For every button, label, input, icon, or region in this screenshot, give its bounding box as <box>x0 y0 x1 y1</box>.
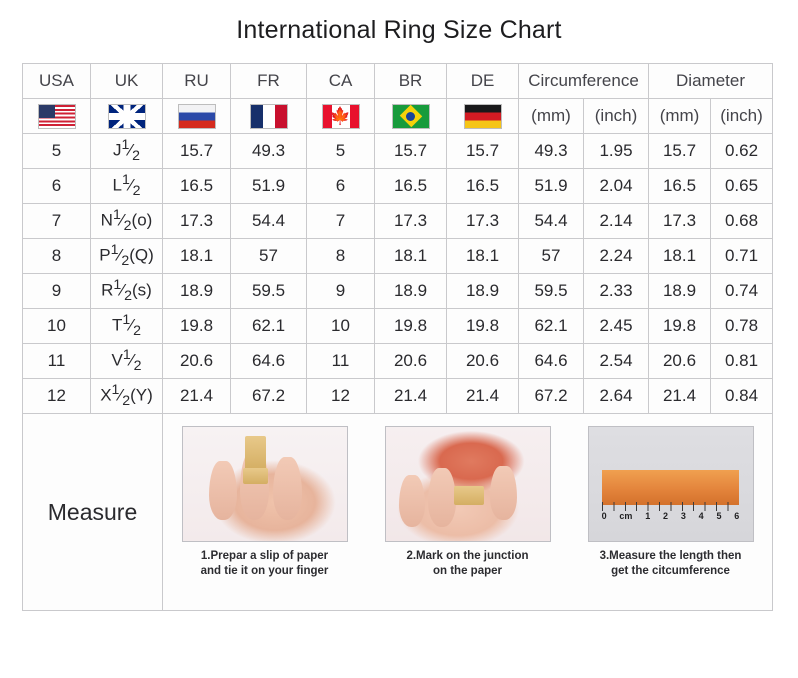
ruler-label: 0 <box>602 511 607 521</box>
uk-denominator: 2 <box>134 359 142 375</box>
table-row: 9R1⁄2(s)18.959.5918.918.959.52.3318.90.7… <box>23 274 773 309</box>
uk-suffix: (o) <box>132 211 153 230</box>
header-ca: CA <box>307 64 375 99</box>
canada-flag-icon: 🍁 <box>322 104 360 129</box>
cell-ru: 21.4 <box>163 379 231 414</box>
cell-dia-mm: 18.1 <box>649 239 711 274</box>
cell-usa-size: 8 <box>23 239 91 274</box>
cell-circ-in: 1.95 <box>584 134 649 169</box>
step-caption-line2: and tie it on your finger <box>165 564 365 579</box>
ruler-label: 3 <box>681 511 686 521</box>
table-row: 6L1⁄216.551.9616.516.551.92.0416.50.65 <box>23 169 773 204</box>
cell-circ-in: 2.24 <box>584 239 649 274</box>
cell-circ-in: 2.04 <box>584 169 649 204</box>
usa-flag-icon <box>38 104 76 129</box>
header-ru: RU <box>163 64 231 99</box>
cell-dia-mm: 17.3 <box>649 204 711 239</box>
cell-uk-size: X1⁄2(Y) <box>91 379 163 414</box>
cell-dia-in: 0.74 <box>711 274 773 309</box>
header-circumference: Circumference <box>519 64 649 99</box>
cell-ru: 18.9 <box>163 274 231 309</box>
cell-br: 17.3 <box>375 204 447 239</box>
table-body: 5J1⁄215.749.3515.715.749.31.9515.70.626L… <box>23 134 773 414</box>
header-row-names: USA UK RU FR CA BR DE Circumference Diam… <box>23 64 773 99</box>
cell-br: 18.1 <box>375 239 447 274</box>
uk-numerator: 1 <box>123 347 131 363</box>
ruler-label: 4 <box>699 511 704 521</box>
cell-fr: 54.4 <box>231 204 307 239</box>
cell-ca: 5 <box>307 134 375 169</box>
uk-letter: R <box>101 281 113 300</box>
cell-ca: 10 <box>307 309 375 344</box>
cell-usa-size: 7 <box>23 204 91 239</box>
cell-uk-size: R1⁄2(s) <box>91 274 163 309</box>
cell-dia-in: 0.65 <box>711 169 773 204</box>
ruler-label: 5 <box>716 511 721 521</box>
ruler-label: 2 <box>663 511 668 521</box>
page-title: International Ring Size Chart <box>0 16 798 45</box>
cell-circ-mm: 67.2 <box>519 379 584 414</box>
uk-denominator: 2 <box>133 184 141 200</box>
cell-ca: 9 <box>307 274 375 309</box>
cell-circ-in: 2.54 <box>584 344 649 379</box>
unit-circumference-inch: (inch) <box>584 99 649 134</box>
uk-letter: T <box>112 316 122 335</box>
uk-denominator: 2 <box>121 254 129 270</box>
cell-de: 20.6 <box>447 344 519 379</box>
cell-dia-mm: 20.6 <box>649 344 711 379</box>
cell-de: 15.7 <box>447 134 519 169</box>
cell-ca: 11 <box>307 344 375 379</box>
header-br: BR <box>375 64 447 99</box>
cell-ru: 17.3 <box>163 204 231 239</box>
ring-size-chart-page: International Ring Size Chart USA UK RU … <box>0 0 798 678</box>
cell-br: 20.6 <box>375 344 447 379</box>
cell-de: 21.4 <box>447 379 519 414</box>
cell-germany-flag <box>447 99 519 134</box>
cell-circ-mm: 51.9 <box>519 169 584 204</box>
cell-br: 15.7 <box>375 134 447 169</box>
cell-uk-size: T1⁄2 <box>91 309 163 344</box>
france-flag-icon <box>250 104 288 129</box>
cell-usa-size: 9 <box>23 274 91 309</box>
cell-ca: 6 <box>307 169 375 204</box>
uk-flag-icon <box>108 104 146 129</box>
ruler-measuring-photo: 0cm123456 <box>588 426 754 542</box>
cell-russia-flag <box>163 99 231 134</box>
cell-usa-size: 12 <box>23 379 91 414</box>
russia-flag-icon <box>178 104 216 129</box>
cell-dia-mm: 19.8 <box>649 309 711 344</box>
step-caption-line1: 2.Mark on the junction <box>368 549 568 564</box>
finger-shape <box>273 457 303 521</box>
uk-suffix: (Q) <box>129 246 154 265</box>
cell-circ-mm: 57 <box>519 239 584 274</box>
cell-uk-size: P1⁄2(Q) <box>91 239 163 274</box>
ruler-label: 1 <box>645 511 650 521</box>
cell-usa-size: 10 <box>23 309 91 344</box>
measure-label: Measure <box>23 414 163 611</box>
step-caption-line1: 1.Prepar a slip of paper <box>165 549 365 564</box>
ruler-label: cm <box>619 511 632 521</box>
germany-flag-icon <box>464 104 502 129</box>
cell-circ-in: 2.14 <box>584 204 649 239</box>
cell-ru: 16.5 <box>163 169 231 204</box>
brazil-flag-icon <box>392 104 430 129</box>
cell-dia-in: 0.81 <box>711 344 773 379</box>
cell-dia-in: 0.71 <box>711 239 773 274</box>
cell-ru: 15.7 <box>163 134 231 169</box>
table-row: 12X1⁄2(Y)21.467.21221.421.467.22.6421.40… <box>23 379 773 414</box>
uk-denominator: 2 <box>133 324 141 340</box>
cell-fr: 59.5 <box>231 274 307 309</box>
table-row: 5J1⁄215.749.3515.715.749.31.9515.70.62 <box>23 134 773 169</box>
ring-size-table: USA UK RU FR CA BR DE Circumference Diam… <box>22 63 773 611</box>
cell-ca: 8 <box>307 239 375 274</box>
uk-denominator: 2 <box>124 219 132 235</box>
paper-strip <box>243 468 268 484</box>
hand-with-paper-strip-photo <box>182 426 348 542</box>
cell-circ-mm: 49.3 <box>519 134 584 169</box>
cell-dia-mm: 15.7 <box>649 134 711 169</box>
cell-br: 21.4 <box>375 379 447 414</box>
cell-dia-mm: 18.9 <box>649 274 711 309</box>
table-header: USA UK RU FR CA BR DE Circumference Diam… <box>23 64 773 134</box>
step-caption: 3.Measure the length thenget the citcumf… <box>571 549 771 579</box>
brazil-globe <box>406 112 415 121</box>
marking-paper-junction-photo <box>385 426 551 542</box>
measure-step: 0cm1234563.Measure the length thenget th… <box>571 426 771 579</box>
cell-dia-in: 0.78 <box>711 309 773 344</box>
cell-circ-mm: 62.1 <box>519 309 584 344</box>
cell-br: 19.8 <box>375 309 447 344</box>
cell-canada-flag: 🍁 <box>307 99 375 134</box>
cell-dia-in: 0.62 <box>711 134 773 169</box>
cell-ca: 12 <box>307 379 375 414</box>
step-caption-line2: get the citcumference <box>571 564 771 579</box>
cell-de: 19.8 <box>447 309 519 344</box>
header-de: DE <box>447 64 519 99</box>
cell-fr: 51.9 <box>231 169 307 204</box>
table-row: 10T1⁄219.862.11019.819.862.12.4519.80.78 <box>23 309 773 344</box>
uk-letter: P <box>99 246 110 265</box>
step-caption: 1.Prepar a slip of paperand tie it on yo… <box>165 549 365 579</box>
cell-brazil-flag <box>375 99 447 134</box>
cell-circ-mm: 54.4 <box>519 204 584 239</box>
ruler-label: 6 <box>734 511 739 521</box>
measure-steps: 1.Prepar a slip of paperand tie it on yo… <box>163 414 772 610</box>
finger-shape <box>399 475 425 527</box>
paper-strip <box>245 436 266 470</box>
step-caption-line2: on the paper <box>368 564 568 579</box>
unit-circumference-mm: (mm) <box>519 99 584 134</box>
cell-usa-flag <box>23 99 91 134</box>
header-uk: UK <box>91 64 163 99</box>
measure-row: Measure 1.Prepar a slip of paperand tie … <box>23 414 773 611</box>
cell-ru: 20.6 <box>163 344 231 379</box>
uk-suffix: (s) <box>132 281 152 300</box>
cell-circ-mm: 64.6 <box>519 344 584 379</box>
cell-dia-mm: 21.4 <box>649 379 711 414</box>
ruler-numbers: 0cm123456 <box>602 511 740 521</box>
table-row: 8P1⁄2(Q)18.157818.118.1572.2418.10.71 <box>23 239 773 274</box>
cell-fr: 62.1 <box>231 309 307 344</box>
table-row: 7N1⁄2(o)17.354.4717.317.354.42.1417.30.6… <box>23 204 773 239</box>
cell-fr: 64.6 <box>231 344 307 379</box>
header-diameter: Diameter <box>649 64 773 99</box>
finger-shape <box>490 466 516 521</box>
finger-shape <box>428 468 456 527</box>
ruler-body <box>602 470 740 504</box>
cell-ru: 19.8 <box>163 309 231 344</box>
header-row-flags: 🍁 (mm) (inch) (mm) (inch) <box>23 99 773 134</box>
measure-section: Measure 1.Prepar a slip of paperand tie … <box>23 414 773 611</box>
cell-ca: 7 <box>307 204 375 239</box>
maple-leaf-icon: 🍁 <box>323 108 359 125</box>
cell-de: 17.3 <box>447 204 519 239</box>
cell-usa-size: 11 <box>23 344 91 379</box>
cell-uk-size: N1⁄2(o) <box>91 204 163 239</box>
ruler-ticks <box>602 502 740 511</box>
uk-denominator: 2 <box>124 289 132 305</box>
cell-uk-size: V1⁄2 <box>91 344 163 379</box>
cell-fr: 57 <box>231 239 307 274</box>
paper-strip <box>454 486 484 504</box>
cell-usa-size: 5 <box>23 134 91 169</box>
step-caption-line1: 3.Measure the length then <box>571 549 771 564</box>
cell-fr: 49.3 <box>231 134 307 169</box>
cell-usa-size: 6 <box>23 169 91 204</box>
uk-denominator: 2 <box>122 394 130 410</box>
cell-circ-in: 2.64 <box>584 379 649 414</box>
measure-steps-cell: 1.Prepar a slip of paperand tie it on yo… <box>163 414 773 611</box>
cell-ru: 18.1 <box>163 239 231 274</box>
cell-france-flag <box>231 99 307 134</box>
cell-br: 16.5 <box>375 169 447 204</box>
cell-br: 18.9 <box>375 274 447 309</box>
header-usa: USA <box>23 64 91 99</box>
uk-letter: V <box>112 351 123 370</box>
cell-fr: 67.2 <box>231 379 307 414</box>
uk-suffix: (Y) <box>130 386 153 405</box>
cell-circ-in: 2.33 <box>584 274 649 309</box>
uk-letter: N <box>101 211 113 230</box>
uk-letter: L <box>112 176 121 195</box>
cell-de: 18.9 <box>447 274 519 309</box>
measure-step: 2.Mark on the junctionon the paper <box>368 426 568 579</box>
unit-diameter-inch: (inch) <box>711 99 773 134</box>
step-caption: 2.Mark on the junctionon the paper <box>368 549 568 579</box>
cell-dia-in: 0.68 <box>711 204 773 239</box>
finger-shape <box>209 461 237 520</box>
cell-uk-flag <box>91 99 163 134</box>
cell-circ-in: 2.45 <box>584 309 649 344</box>
cell-uk-size: L1⁄2 <box>91 169 163 204</box>
cell-de: 16.5 <box>447 169 519 204</box>
cell-circ-mm: 59.5 <box>519 274 584 309</box>
cell-dia-in: 0.84 <box>711 379 773 414</box>
cell-dia-mm: 16.5 <box>649 169 711 204</box>
uk-numerator: 1 <box>113 207 121 223</box>
header-fr: FR <box>231 64 307 99</box>
uk-denominator: 2 <box>132 149 140 165</box>
cell-uk-size: J1⁄2 <box>91 134 163 169</box>
uk-numerator: 1 <box>122 172 130 188</box>
table-row: 11V1⁄220.664.61120.620.664.62.5420.60.81 <box>23 344 773 379</box>
measure-step: 1.Prepar a slip of paperand tie it on yo… <box>165 426 365 579</box>
unit-diameter-mm: (mm) <box>649 99 711 134</box>
uk-letter: X <box>100 386 111 405</box>
cell-de: 18.1 <box>447 239 519 274</box>
